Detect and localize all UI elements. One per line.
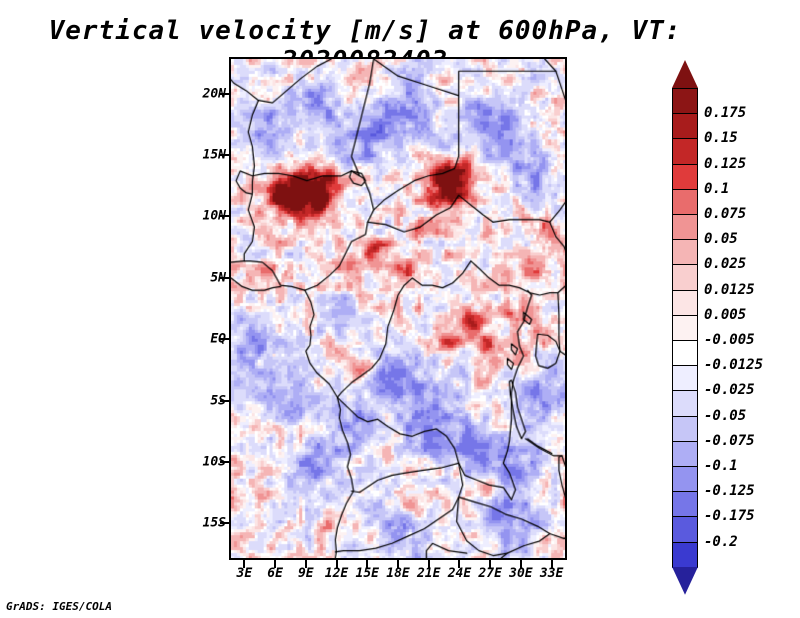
x-axis-tick-mark xyxy=(551,560,553,568)
x-axis-tick-mark xyxy=(243,560,245,568)
y-axis-tick-mark xyxy=(220,215,229,217)
colorbar-segment xyxy=(672,441,698,468)
y-axis-tick-mark xyxy=(220,461,229,463)
colorbar-tick-label: 0.1 xyxy=(704,181,729,197)
y-axis-tick-label: 5N xyxy=(166,270,226,285)
x-axis-tick-mark xyxy=(366,560,368,568)
colorbar-segment xyxy=(672,315,698,342)
colorbar-tick-label: -0.125 xyxy=(704,483,755,499)
colorbar-tick-label: 0.0125 xyxy=(704,282,755,298)
colorbar-segment xyxy=(672,542,698,569)
colorbar-segment xyxy=(672,466,698,493)
x-axis-tick-mark xyxy=(397,560,399,568)
x-axis-tick-mark xyxy=(428,560,430,568)
colorbar-tick-label: -0.05 xyxy=(704,408,746,424)
y-axis-tick-label: 10S xyxy=(166,454,226,469)
colorbar-tick-label: -0.1 xyxy=(704,458,738,474)
colorbar-tick-label: -0.175 xyxy=(704,508,755,524)
y-axis-tick-label: 5S xyxy=(166,393,226,408)
colorbar-arrow-min xyxy=(672,567,698,595)
x-axis-tick-mark xyxy=(520,560,522,568)
vertical-velocity-heatmap xyxy=(231,59,565,558)
colorbar-segment xyxy=(672,416,698,443)
colorbar-tick-label: 0.125 xyxy=(704,156,746,172)
colorbar-tick-label: 0.075 xyxy=(704,206,746,222)
colorbar-segment xyxy=(672,365,698,392)
x-axis-tick-mark xyxy=(336,560,338,568)
colorbar-tick-label: 0.15 xyxy=(704,130,738,146)
colorbar-segment xyxy=(672,88,698,115)
colorbar-segment xyxy=(672,138,698,165)
y-axis-tick-mark xyxy=(220,338,229,340)
x-axis-tick-label: 33E xyxy=(529,566,575,581)
colorbar-segment xyxy=(672,390,698,417)
colorbar-segment xyxy=(672,491,698,518)
map-plot-area xyxy=(229,57,567,560)
colorbar-segment xyxy=(672,164,698,191)
y-axis-tick-label: 15S xyxy=(166,516,226,531)
x-axis-tick-mark xyxy=(458,560,460,568)
y-axis-tick-mark xyxy=(220,400,229,402)
colorbar-tick-label: 0.05 xyxy=(704,231,738,247)
colorbar-segment xyxy=(672,264,698,291)
colorbar: 0.1750.150.1250.10.0750.050.0250.01250.0… xyxy=(672,60,698,565)
colorbar-tick-label: -0.2 xyxy=(704,534,738,550)
colorbar-segment xyxy=(672,340,698,367)
colorbar-segment xyxy=(672,113,698,140)
colorbar-tick-label: 0.005 xyxy=(704,307,746,323)
colorbar-tick-label: 0.175 xyxy=(704,105,746,121)
colorbar-arrow-max xyxy=(672,60,698,88)
y-axis-tick-label: 15N xyxy=(166,148,226,163)
y-axis-tick-mark xyxy=(220,154,229,156)
y-axis-tick-label: 20N xyxy=(166,86,226,101)
y-axis-tick-mark xyxy=(220,522,229,524)
colorbar-tick-label: 0.025 xyxy=(704,256,746,272)
y-axis-tick-label: EQ xyxy=(166,332,226,347)
y-axis-tick-mark xyxy=(220,93,229,95)
x-axis-tick-mark xyxy=(489,560,491,568)
x-axis-tick-mark xyxy=(305,560,307,568)
credit-label: GrADS: IGES/COLA xyxy=(6,600,112,613)
colorbar-segment xyxy=(672,290,698,317)
y-axis-tick-label: 10N xyxy=(166,209,226,224)
colorbar-segment xyxy=(672,214,698,241)
colorbar-segment xyxy=(672,239,698,266)
x-axis-tick-mark xyxy=(274,560,276,568)
colorbar-tick-label: -0.075 xyxy=(704,433,755,449)
colorbar-tick-label: -0.0125 xyxy=(704,357,763,373)
colorbar-tick-label: -0.025 xyxy=(704,382,755,398)
colorbar-tick-label: -0.005 xyxy=(704,332,755,348)
colorbar-segment xyxy=(672,189,698,216)
colorbar-segment xyxy=(672,516,698,543)
y-axis-tick-mark xyxy=(220,277,229,279)
